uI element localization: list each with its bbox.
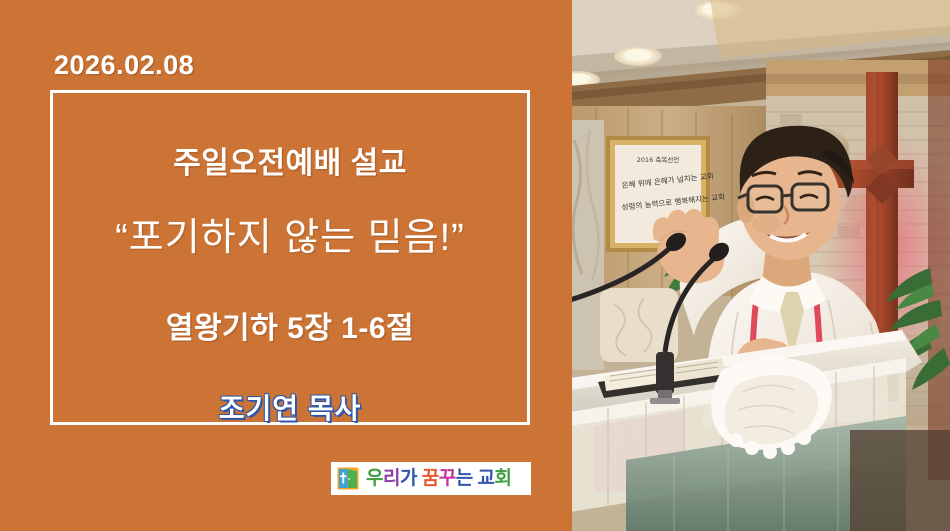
sermon-info-box: 주일오전예배 설교 “포기하지 않는 믿음!” 열왕기하 5장 1-6절 조기연… bbox=[50, 90, 530, 425]
open-door-cross-icon bbox=[337, 467, 359, 490]
sermon-title: “포기하지 않는 믿음!” bbox=[115, 206, 465, 261]
logo-char: 가 bbox=[400, 468, 417, 489]
church-logo: 우리가 꿈꾸는 교회 bbox=[331, 462, 531, 495]
left-info-panel: 2026.02.08 주일오전예배 설교 “포기하지 않는 믿음!” 열왕기하 … bbox=[0, 0, 572, 531]
service-type-label: 주일오전예배 설교 bbox=[173, 138, 407, 182]
logo-char: 리 bbox=[383, 468, 400, 489]
church-logo-text: 우리가 꿈꾸는 교회 bbox=[366, 469, 511, 488]
preacher-name: 조기연 목사 bbox=[219, 387, 362, 427]
sermon-date: 2026.02.08 bbox=[54, 50, 194, 81]
sermon-title-card: 2016 축복선언 은혜 위에 은혜가 넘치는 교회 성령의 능력으로 행복해지… bbox=[0, 0, 950, 531]
logo-char: 꿈 bbox=[422, 468, 439, 489]
logo-char: 꾸 bbox=[439, 468, 456, 489]
scripture-reference: 열왕기하 5장 1-6절 bbox=[166, 303, 414, 347]
logo-char: 는 bbox=[456, 468, 473, 489]
logo-char: 교 bbox=[477, 468, 494, 489]
logo-char: 우 bbox=[366, 468, 383, 489]
logo-char: 회 bbox=[494, 468, 511, 489]
pastor-preaching-photo: 2016 축복선언 은혜 위에 은혜가 넘치는 교회 성령의 능력으로 행복해지… bbox=[570, 0, 950, 531]
